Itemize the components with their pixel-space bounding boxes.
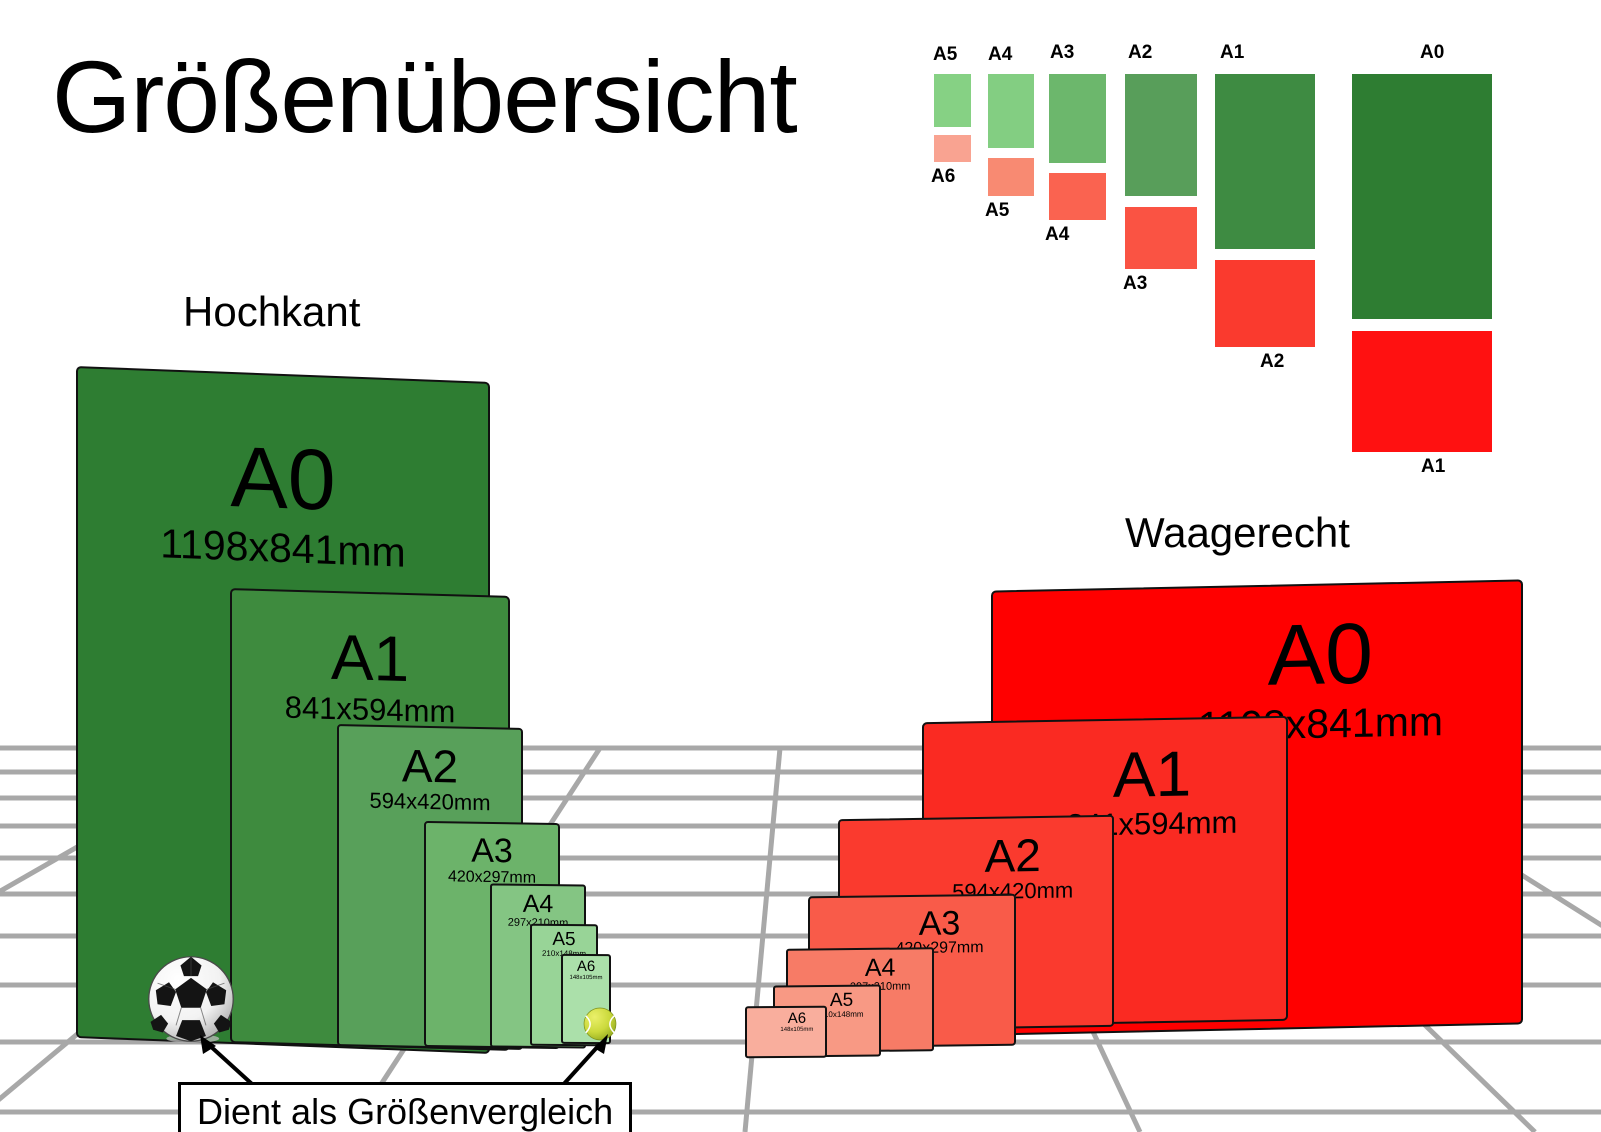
legend-rect-red-a3 — [1125, 207, 1197, 269]
legend-bottom-label-a5: A5 — [985, 200, 1009, 222]
sheet-label: A1 — [1040, 740, 1264, 808]
sheet-label: A0 — [1151, 608, 1489, 701]
callout-label: Dient als Größenvergleich — [178, 1082, 632, 1132]
legend-rect-green-a1 — [1215, 74, 1315, 249]
legend-rect-green-a2 — [1125, 74, 1197, 196]
soccer-ball-icon — [147, 955, 235, 1043]
sheet-label: A2 — [930, 831, 1096, 880]
legend-rect-red-a2 — [1215, 260, 1315, 347]
legend-top-label-a0: A0 — [1420, 42, 1444, 64]
legend-rect-red-a6 — [934, 135, 971, 162]
sheet-label: A4 — [492, 891, 584, 917]
legend-rect-red-a1 — [1352, 331, 1492, 452]
sheet-dimension: 148x105mm — [563, 975, 609, 981]
sheet-label: A6 — [563, 959, 609, 974]
legend-rect-green-a5 — [934, 74, 971, 127]
legend-top-label-a2: A2 — [1128, 42, 1152, 64]
legend-rect-red-a5 — [988, 158, 1034, 196]
legend-top-label-a4: A4 — [988, 44, 1012, 66]
legend-bottom-label-a6: A6 — [931, 166, 955, 188]
legend-top-label-a1: A1 — [1220, 42, 1244, 64]
page-title: Größenübersicht — [52, 44, 797, 151]
legend-top-label-a3: A3 — [1050, 42, 1074, 64]
legend-bottom-label-a3: A3 — [1123, 273, 1147, 295]
legend-bottom-label-a4: A4 — [1045, 224, 1069, 246]
legend-bottom-label-a1: A1 — [1421, 456, 1445, 478]
legend-top-label-a5: A5 — [933, 44, 957, 66]
sheet-dimension: 148x105mm — [774, 1027, 821, 1033]
infographic-canvas: Größenübersicht A5 A6 A4 A5 A3 A4 A2 — [0, 0, 1601, 1132]
sheet-label: A4 — [837, 955, 923, 981]
sheet-landscape-a6[interactable]: A6 148x105mm — [745, 1006, 827, 1059]
landscape-section-heading: Waagerecht — [1125, 509, 1350, 557]
legend-bottom-label-a2: A2 — [1260, 351, 1284, 373]
legend-rect-green-a3 — [1049, 74, 1106, 163]
sheet-label: A3 — [877, 906, 1001, 942]
sheet-label: A2 — [339, 741, 521, 791]
legend-rect-red-a4 — [1049, 173, 1106, 220]
sheet-label: A0 — [78, 428, 488, 530]
sheet-label: A3 — [426, 833, 558, 869]
sheet-dimension: 594x420mm — [339, 789, 521, 815]
portrait-section-heading: Hochkant — [183, 288, 360, 336]
sheet-dimension: 841x594mm — [232, 690, 508, 729]
legend-rect-green-a4 — [988, 74, 1034, 148]
sheet-dimension: 1198x841mm — [78, 520, 488, 577]
sheet-label: A1 — [232, 622, 508, 694]
sheet-label: A5 — [532, 930, 596, 950]
sheet-label: A6 — [774, 1011, 821, 1026]
legend-rect-green-a0 — [1352, 74, 1492, 319]
size-ratio-legend: A5 A6 A4 A5 A3 A4 A2 A3 A1 — [925, 40, 1545, 480]
